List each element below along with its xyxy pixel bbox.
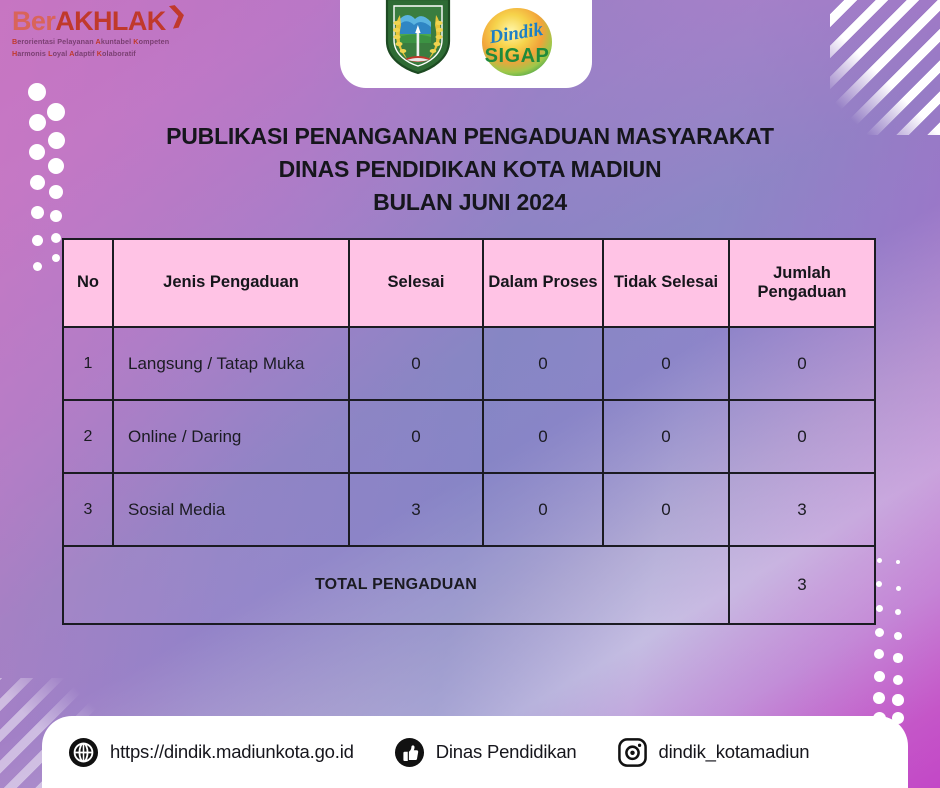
cell-jenis: Langsung / Tatap Muka — [113, 327, 349, 400]
cell-dalam-proses: 0 — [483, 473, 603, 546]
cell-tidak-selesai: 0 — [603, 473, 729, 546]
dindik-sigap-logo-icon: Dindik SIGAP — [479, 4, 555, 80]
berakhlak-logo: BerAKHLAK ❯ Berorientasi Pelayanan Akunt… — [12, 8, 192, 60]
logo-panel: KOTA MADIUN — [340, 0, 592, 88]
decorative-dot — [896, 586, 901, 591]
svg-text:SIGAP: SIGAP — [485, 45, 550, 67]
total-value: 3 — [729, 546, 875, 624]
decorative-dot — [876, 605, 883, 612]
decorative-dot — [875, 628, 884, 637]
cell-jenis: Online / Daring — [113, 400, 349, 473]
kota-madiun-coat-of-arms-icon — [381, 0, 455, 75]
kota-madiun-crest: KOTA MADIUN — [375, 0, 461, 80]
decorative-dot — [873, 692, 885, 704]
cell-dalam-proses: 0 — [483, 400, 603, 473]
berakhlak-wordmark: BerAKHLAK ❯ — [12, 8, 192, 35]
berakhlak-prefix: Ber — [12, 6, 55, 36]
decorative-dot — [52, 254, 60, 262]
cell-selesai: 3 — [349, 473, 483, 546]
footer-facebook[interactable]: Dinas Pendidikan — [394, 737, 577, 768]
cell-dalam-proses: 0 — [483, 327, 603, 400]
table-total-row: TOTAL PENGADUAN 3 — [63, 546, 875, 624]
decorative-dot — [874, 649, 884, 659]
complaints-table-wrapper: No Jenis Pengaduan Selesai Dalam Proses … — [62, 238, 874, 625]
berakhlak-tagline-line-1: Berorientasi Pelayanan Akuntabel Kompete… — [12, 37, 192, 47]
cell-no: 2 — [63, 400, 113, 473]
decorative-dot — [896, 560, 900, 564]
thumbs-up-icon — [394, 737, 425, 768]
title-line-1: PUBLIKASI PENANGANAN PENGADUAN MASYARAKA… — [0, 120, 940, 153]
footer-facebook-text: Dinas Pendidikan — [436, 741, 577, 763]
header-tidak-selesai: Tidak Selesai — [603, 239, 729, 327]
table-row: 3 Sosial Media 3 0 0 3 — [63, 473, 875, 546]
table-header-row: No Jenis Pengaduan Selesai Dalam Proses … — [63, 239, 875, 327]
header-jumlah-pengaduan: Jumlah Pengaduan — [729, 239, 875, 327]
instagram-icon — [617, 737, 648, 768]
footer-website[interactable]: https://dindik.madiunkota.go.id — [68, 737, 354, 768]
cell-selesai: 0 — [349, 400, 483, 473]
berakhlak-tagline-line-2: Harmonis Loyal Adaptif Kolaboratif — [12, 49, 192, 59]
header-selesai: Selesai — [349, 239, 483, 327]
decorative-dot — [32, 235, 43, 246]
footer-website-text: https://dindik.madiunkota.go.id — [110, 741, 354, 763]
header-dalam-proses: Dalam Proses — [483, 239, 603, 327]
cell-jumlah: 0 — [729, 327, 875, 400]
cell-jenis: Sosial Media — [113, 473, 349, 546]
chevron-right-icon: ❯ — [166, 3, 187, 28]
decorative-dot — [28, 83, 46, 101]
decorative-dot — [877, 558, 882, 563]
decorative-dot — [892, 694, 904, 706]
table-row: 1 Langsung / Tatap Muka 0 0 0 0 — [63, 327, 875, 400]
decorative-dot — [876, 581, 882, 587]
footer-instagram[interactable]: dindik_kotamadiun — [617, 737, 810, 768]
dindik-sigap-logo: Dindik SIGAP — [477, 4, 557, 80]
table-row: 2 Online / Daring 0 0 0 0 — [63, 400, 875, 473]
total-label: TOTAL PENGADUAN — [63, 546, 729, 624]
header-jenis-pengaduan: Jenis Pengaduan — [113, 239, 349, 327]
cell-selesai: 0 — [349, 327, 483, 400]
decorative-dot — [894, 632, 902, 640]
decorative-dot — [33, 262, 42, 271]
cell-jumlah: 0 — [729, 400, 875, 473]
header-no: No — [63, 239, 113, 327]
decorative-dot — [47, 103, 65, 121]
page-title: PUBLIKASI PENANGANAN PENGADUAN MASYARAKA… — [0, 120, 940, 219]
cell-no: 3 — [63, 473, 113, 546]
decorative-dot — [893, 653, 902, 662]
decorative-dot — [874, 671, 885, 682]
cell-tidak-selesai: 0 — [603, 400, 729, 473]
title-line-3: BULAN JUNI 2024 — [0, 186, 940, 219]
title-line-2: DINAS PENDIDIKAN KOTA MADIUN — [0, 153, 940, 186]
complaints-table: No Jenis Pengaduan Selesai Dalam Proses … — [62, 238, 876, 625]
footer-bar: https://dindik.madiunkota.go.id Dinas Pe… — [42, 716, 908, 788]
decorative-dot — [51, 233, 61, 243]
berakhlak-main: AKHLAK — [55, 6, 165, 36]
footer-instagram-text: dindik_kotamadiun — [659, 741, 810, 763]
cell-no: 1 — [63, 327, 113, 400]
globe-icon — [68, 737, 99, 768]
cell-tidak-selesai: 0 — [603, 327, 729, 400]
cell-jumlah: 3 — [729, 473, 875, 546]
